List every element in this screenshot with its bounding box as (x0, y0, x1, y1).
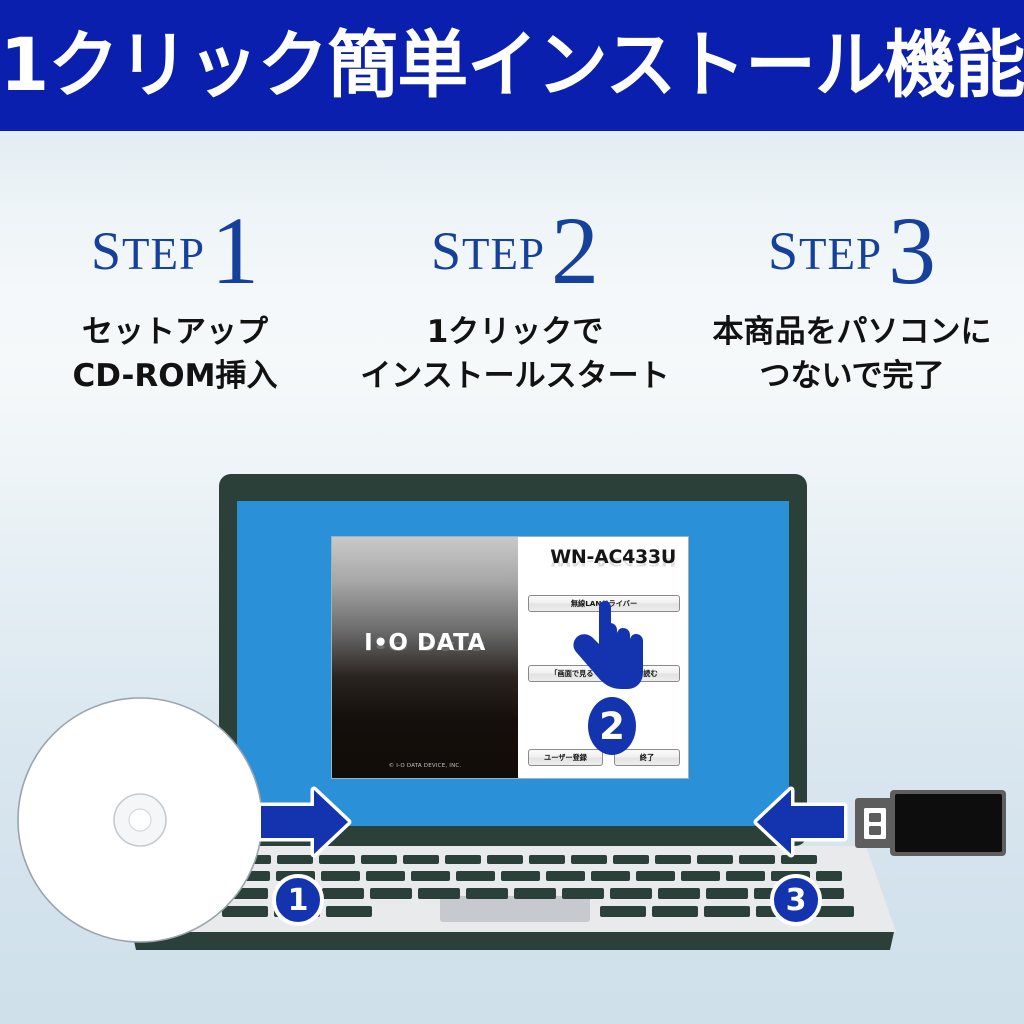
installer-window: I•O DATA I•O DATA © I-O DATA DEVICE, INC… (331, 536, 689, 779)
io-data-logo-reflection: I•O DATA (332, 639, 518, 653)
infographic-page: 1クリック簡単インストール機能 STEP 1 セットアップ CD-ROM挿入 S… (0, 0, 1024, 1024)
badge-step-1: 1 (272, 874, 324, 926)
installer-menu-panel: WN-AC433U WN-AC433U 無線LANドライバー 「画面で見るマニュ… (518, 537, 688, 778)
illustration-laptop-scene (0, 0, 1024, 1024)
trackpad (440, 896, 590, 922)
badge-step-3: 3 (770, 874, 822, 926)
badge-step-2: 2 (588, 697, 636, 755)
user-registration-button[interactable]: ユーザー登録 (528, 749, 603, 766)
pointing-hand-cursor (571, 599, 645, 695)
installer-splash-panel: I•O DATA I•O DATA © I-O DATA DEVICE, INC… (332, 537, 518, 778)
wireless-lan-usb-adapter (855, 790, 1006, 856)
exit-button[interactable]: 終了 (614, 749, 680, 766)
copyright-text: © I-O DATA DEVICE, INC. (332, 763, 518, 769)
product-name-reflection: WN-AC433U (550, 555, 676, 568)
setup-cd-rom (18, 698, 262, 942)
